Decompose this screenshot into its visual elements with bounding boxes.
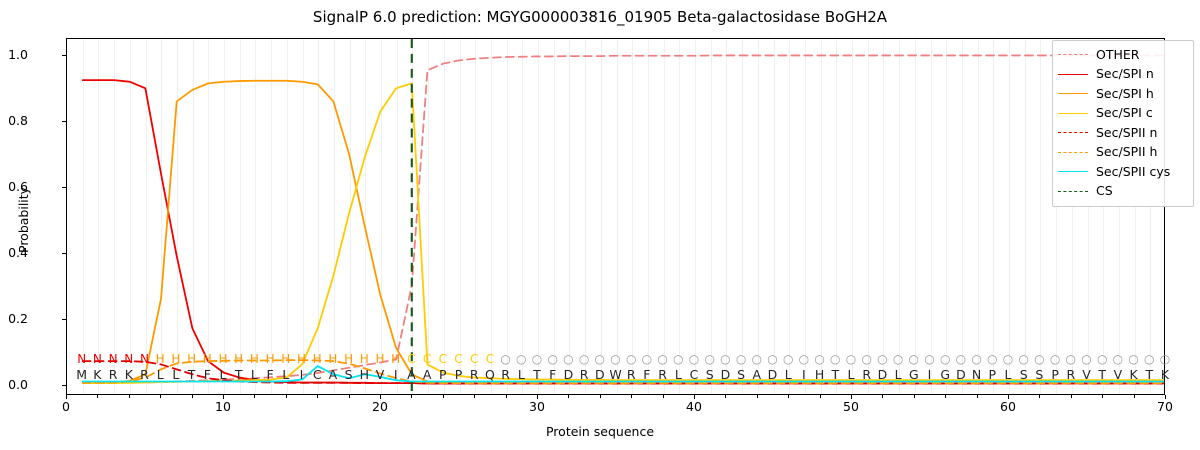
- legend-label: Sec/SPII h: [1096, 146, 1157, 159]
- amino-acid-row: MKRKRLLTFLTLFLICASHVIAAPPRQRLTFDRDWRFRLC…: [66, 367, 1165, 383]
- legend-label: Sec/SPII cys: [1096, 166, 1170, 179]
- region-char: ○: [595, 352, 605, 366]
- region-char: H: [187, 352, 196, 366]
- residue-char: L: [785, 367, 792, 382]
- region-char: C: [470, 352, 478, 366]
- residue-char: L: [220, 367, 227, 382]
- region-char: H: [391, 352, 400, 366]
- residue-char: T: [533, 367, 541, 382]
- x-minor-tick: [129, 395, 130, 398]
- region-char: ○: [846, 352, 856, 366]
- residue-char: S: [706, 367, 714, 382]
- region-char: ○: [736, 352, 746, 366]
- residue-char: V: [1114, 367, 1123, 382]
- x-minor-tick: [631, 395, 632, 398]
- residue-char: I: [300, 367, 304, 382]
- region-char: ○: [500, 352, 510, 366]
- residue-char: C: [313, 367, 322, 382]
- x-minor-tick: [1071, 395, 1072, 398]
- region-char: H: [375, 352, 384, 366]
- legend-label: Sec/SPI c: [1096, 107, 1153, 120]
- region-char: ○: [956, 352, 966, 366]
- x-tick-mark: [380, 395, 381, 399]
- region-char: ○: [767, 352, 777, 366]
- region-char: ○: [1081, 352, 1091, 366]
- legend-label: Sec/SPI h: [1096, 88, 1154, 101]
- residue-char: N: [972, 367, 981, 382]
- region-char: ○: [579, 352, 589, 366]
- x-minor-tick: [1134, 395, 1135, 398]
- region-char: ○: [987, 352, 997, 366]
- residue-char: P: [989, 367, 997, 382]
- residue-char: D: [878, 367, 888, 382]
- region-annotation-row: NNNNNHHHHHHHHHHHHHHHHCCCCCC○○○○○○○○○○○○○…: [66, 352, 1165, 366]
- y-tick-label: 0.8: [0, 113, 28, 128]
- plot-area: [66, 38, 1165, 395]
- x-minor-tick: [757, 395, 758, 398]
- region-char: ○: [940, 352, 950, 366]
- region-char: H: [344, 352, 353, 366]
- region-char: C: [486, 352, 494, 366]
- y-tick-label: 0.0: [0, 377, 28, 392]
- x-minor-tick: [474, 395, 475, 398]
- x-minor-tick: [977, 395, 978, 398]
- residue-char: D: [721, 367, 731, 382]
- region-char: N: [140, 352, 149, 366]
- legend-swatch-icon: [1058, 93, 1088, 94]
- residue-char: L: [895, 367, 902, 382]
- region-char: N: [124, 352, 133, 366]
- residue-char: T: [1098, 367, 1106, 382]
- residue-char: H: [360, 367, 369, 382]
- x-minor-tick: [1039, 395, 1040, 398]
- x-axis-label: Protein sequence: [0, 424, 1200, 439]
- x-minor-tick: [160, 395, 161, 398]
- legend-item[interactable]: CS: [1058, 182, 1188, 202]
- residue-char: K: [1129, 367, 1137, 382]
- region-char: ○: [752, 352, 762, 366]
- residue-char: L: [518, 367, 525, 382]
- region-char: N: [109, 352, 118, 366]
- legend-swatch-icon: [1058, 191, 1088, 192]
- region-char: ○: [532, 352, 542, 366]
- region-char: ○: [861, 352, 871, 366]
- region-char: H: [171, 352, 180, 366]
- legend-item[interactable]: Sec/SPII n: [1058, 123, 1188, 143]
- residue-char: F: [549, 367, 556, 382]
- legend-swatch-icon: [1058, 132, 1088, 133]
- residue-char: A: [329, 367, 338, 382]
- residue-char: K: [1161, 367, 1169, 382]
- residue-char: S: [737, 367, 745, 382]
- legend-item[interactable]: Sec/SPII cys: [1058, 162, 1188, 182]
- signalp-plot-page: SignalP 6.0 prediction: MGYG000003816_01…: [0, 0, 1200, 450]
- region-char: ○: [642, 352, 652, 366]
- region-char: ○: [1050, 352, 1060, 366]
- region-char: H: [297, 352, 306, 366]
- x-minor-tick: [788, 395, 789, 398]
- region-char: ○: [1034, 352, 1044, 366]
- x-tick-label: 50: [843, 399, 859, 414]
- x-tick-label: 60: [1000, 399, 1016, 414]
- region-char: ○: [547, 352, 557, 366]
- region-char: ○: [893, 352, 903, 366]
- region-char: ○: [704, 352, 714, 366]
- series-line: [83, 83, 1164, 383]
- x-minor-tick: [192, 395, 193, 398]
- residue-char: R: [658, 367, 667, 382]
- residue-char: G: [909, 367, 919, 382]
- series-svg: [67, 39, 1164, 394]
- curves-container: [67, 39, 1164, 394]
- region-char: ○: [1144, 352, 1154, 366]
- residue-char: H: [815, 367, 824, 382]
- region-char: N: [77, 352, 86, 366]
- residue-char: R: [109, 367, 118, 382]
- legend-swatch-icon: [1058, 171, 1088, 172]
- legend-label: OTHER: [1096, 49, 1139, 62]
- legend-swatch-icon: [1058, 54, 1088, 55]
- residue-char: R: [501, 367, 510, 382]
- x-minor-tick: [914, 395, 915, 398]
- residue-char: K: [125, 367, 133, 382]
- residue-char: T: [235, 367, 243, 382]
- legend-swatch-icon: [1058, 113, 1088, 114]
- residue-char: L: [282, 367, 289, 382]
- x-minor-tick: [286, 395, 287, 398]
- x-tick-label: 10: [215, 399, 231, 414]
- region-char: H: [266, 352, 275, 366]
- residue-char: L: [1005, 367, 1012, 382]
- region-char: ○: [909, 352, 919, 366]
- residue-char: A: [753, 367, 762, 382]
- region-char: ○: [657, 352, 667, 366]
- region-char: ○: [516, 352, 526, 366]
- region-char: ○: [877, 352, 887, 366]
- region-char: ○: [1097, 352, 1107, 366]
- x-tick-label: 40: [686, 399, 702, 414]
- x-tick-mark: [223, 395, 224, 399]
- x-tick-mark: [694, 395, 695, 399]
- region-char: ○: [1018, 352, 1028, 366]
- series-line: [83, 80, 1164, 383]
- x-tick-mark: [1165, 395, 1166, 399]
- region-char: N: [93, 352, 102, 366]
- residue-char: V: [376, 367, 385, 382]
- residue-char: R: [862, 367, 871, 382]
- residue-char: F: [204, 367, 211, 382]
- x-tick-label: 20: [372, 399, 388, 414]
- region-char: ○: [1128, 352, 1138, 366]
- x-minor-tick: [945, 395, 946, 398]
- x-minor-tick: [663, 395, 664, 398]
- series-line: [83, 81, 1164, 384]
- x-minor-tick: [568, 395, 569, 398]
- region-char: C: [423, 352, 431, 366]
- residue-char: P: [439, 367, 447, 382]
- x-minor-tick: [725, 395, 726, 398]
- region-char: H: [281, 352, 290, 366]
- residue-char: G: [940, 367, 950, 382]
- x-minor-tick: [349, 395, 350, 398]
- region-char: ○: [830, 352, 840, 366]
- y-tick-label: 0.6: [0, 179, 28, 194]
- residue-char: L: [157, 367, 164, 382]
- y-tick-label: 0.4: [0, 245, 28, 260]
- residue-char: T: [831, 367, 839, 382]
- residue-char: L: [675, 367, 682, 382]
- region-char: ○: [1066, 352, 1076, 366]
- x-tick-mark: [66, 395, 67, 399]
- region-char: C: [454, 352, 462, 366]
- region-char: H: [156, 352, 165, 366]
- residue-char: P: [1051, 367, 1059, 382]
- x-minor-tick: [443, 395, 444, 398]
- x-minor-tick: [1102, 395, 1103, 398]
- residue-char: I: [802, 367, 806, 382]
- residue-char: T: [1145, 367, 1153, 382]
- residue-char: L: [172, 367, 179, 382]
- x-tick-label: 70: [1157, 399, 1173, 414]
- residue-char: D: [768, 367, 778, 382]
- region-char: ○: [971, 352, 981, 366]
- residue-char: I: [394, 367, 398, 382]
- residue-char: L: [848, 367, 855, 382]
- residue-char: L: [251, 367, 258, 382]
- x-tick-mark: [537, 395, 538, 399]
- region-char: ○: [924, 352, 934, 366]
- region-char: ○: [626, 352, 636, 366]
- residue-char: S: [1035, 367, 1043, 382]
- y-axis-label: Probability: [16, 186, 31, 252]
- residue-char: F: [266, 367, 273, 382]
- residue-char: F: [643, 367, 650, 382]
- y-tick-label: 0.2: [0, 311, 28, 326]
- legend-item[interactable]: Sec/SPI c: [1058, 104, 1188, 124]
- legend: OTHERSec/SPI nSec/SPI hSec/SPI cSec/SPII…: [1052, 40, 1194, 207]
- residue-char: Q: [485, 367, 495, 382]
- x-minor-tick: [97, 395, 98, 398]
- residue-char: A: [407, 367, 416, 382]
- x-tick-label: 30: [529, 399, 545, 414]
- legend-item[interactable]: Sec/SPI h: [1058, 84, 1188, 104]
- region-char: ○: [689, 352, 699, 366]
- x-minor-tick: [411, 395, 412, 398]
- region-char: ○: [1003, 352, 1013, 366]
- region-char: ○: [814, 352, 824, 366]
- legend-swatch-icon: [1058, 74, 1088, 75]
- residue-char: P: [455, 367, 463, 382]
- residue-char: W: [609, 367, 621, 382]
- region-char: H: [203, 352, 212, 366]
- residue-char: T: [188, 367, 196, 382]
- legend-item[interactable]: Sec/SPI n: [1058, 65, 1188, 85]
- residue-char: D: [564, 367, 574, 382]
- residue-char: K: [93, 367, 101, 382]
- residue-char: M: [76, 367, 87, 382]
- x-tick-mark: [1008, 395, 1009, 399]
- region-char: ○: [799, 352, 809, 366]
- x-minor-tick: [506, 395, 507, 398]
- legend-label: Sec/SPI n: [1096, 68, 1154, 81]
- region-char: ○: [720, 352, 730, 366]
- region-char: ○: [563, 352, 573, 366]
- x-minor-tick: [254, 395, 255, 398]
- residue-char: R: [627, 367, 636, 382]
- residue-char: S: [345, 367, 353, 382]
- series-line: [83, 55, 1164, 382]
- residue-char: D: [956, 367, 966, 382]
- region-char: ○: [610, 352, 620, 366]
- residue-char: R: [140, 367, 149, 382]
- region-char: C: [439, 352, 447, 366]
- region-char: H: [360, 352, 369, 366]
- residue-char: A: [423, 367, 432, 382]
- x-minor-tick: [317, 395, 318, 398]
- region-char: ○: [1113, 352, 1123, 366]
- residue-char: R: [1066, 367, 1075, 382]
- x-minor-tick: [882, 395, 883, 398]
- residue-char: S: [1020, 367, 1028, 382]
- residue-char: V: [1082, 367, 1091, 382]
- region-char: H: [250, 352, 259, 366]
- x-minor-tick: [820, 395, 821, 398]
- region-char: H: [234, 352, 243, 366]
- residue-char: R: [470, 367, 479, 382]
- legend-label: CS: [1096, 185, 1113, 198]
- legend-item[interactable]: OTHER: [1058, 45, 1188, 65]
- page-title: SignalP 6.0 prediction: MGYG000003816_01…: [0, 8, 1200, 26]
- residue-char: R: [580, 367, 589, 382]
- x-tick-mark: [851, 395, 852, 399]
- region-char: H: [328, 352, 337, 366]
- residue-char: I: [928, 367, 932, 382]
- legend-label: Sec/SPII n: [1096, 127, 1157, 140]
- region-char: ○: [1160, 352, 1170, 366]
- region-char: ○: [673, 352, 683, 366]
- region-char: ○: [783, 352, 793, 366]
- residue-char: C: [690, 367, 699, 382]
- y-tick-label: 1.0: [0, 47, 28, 62]
- legend-item[interactable]: Sec/SPII h: [1058, 143, 1188, 163]
- residue-char: D: [595, 367, 605, 382]
- region-char: C: [407, 352, 415, 366]
- x-minor-tick: [600, 395, 601, 398]
- region-char: H: [218, 352, 227, 366]
- x-tick-label: 0: [62, 399, 70, 414]
- legend-swatch-icon: [1058, 152, 1088, 153]
- region-char: H: [313, 352, 322, 366]
